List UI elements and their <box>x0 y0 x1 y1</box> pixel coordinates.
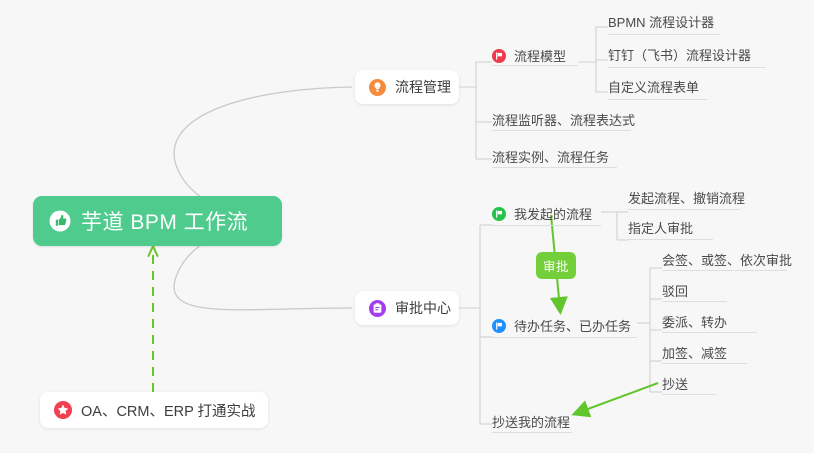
underline-todo-tasks <box>492 337 637 338</box>
underline-process-instance <box>492 167 617 168</box>
leaf-label-cc-processes: 抄送我的流程 <box>492 412 570 431</box>
underline-dingtalk-designer <box>608 67 766 68</box>
note-label-integration: OA、CRM、ERP 打通实战 <box>81 400 256 421</box>
underline-cc <box>662 394 716 395</box>
underline-bpmn-designer <box>608 34 720 35</box>
leaf-start-cancel[interactable]: 发起流程、撤销流程 <box>628 188 745 211</box>
root-label: 芋道 BPM 工作流 <box>81 206 248 236</box>
star-icon <box>54 401 72 419</box>
callout-approve-label: 审批 <box>543 256 569 275</box>
branch-label-process-management: 流程管理 <box>395 77 451 97</box>
root-node[interactable]: 芋道 BPM 工作流 <box>33 196 282 246</box>
leaf-label-process-instance: 流程实例、流程任务 <box>492 147 609 166</box>
underline-designated-approver <box>628 239 713 240</box>
underline-process-model <box>492 65 578 66</box>
annotation-arrow-cc <box>577 383 658 413</box>
underline-delegate <box>662 332 757 333</box>
leaf-bpmn-designer[interactable]: BPMN 流程设计器 <box>608 12 714 35</box>
underline-cc-processes <box>492 432 572 433</box>
branch-card-process-management[interactable]: 流程管理 <box>355 70 459 104</box>
thumbs-up-icon <box>49 210 71 232</box>
leaf-label-delegate: 委派、转办 <box>662 312 727 331</box>
mindmap-canvas: 芋道 BPM 工作流 流程管理 审批中心 <box>0 0 814 453</box>
leaf-my-processes[interactable]: 我发起的流程 <box>492 204 592 227</box>
leaf-label-process-listener: 流程监听器、流程表达式 <box>492 110 635 129</box>
branch-card-approval-center[interactable]: 审批中心 <box>355 291 459 325</box>
leaf-label-bpmn-designer: BPMN 流程设计器 <box>608 12 714 31</box>
leaf-custom-form[interactable]: 自定义流程表单 <box>608 77 699 100</box>
branch-label-approval-center: 审批中心 <box>395 298 451 318</box>
leaf-label-add-remove-sign: 加签、减签 <box>662 343 727 362</box>
leaf-label-reject: 驳回 <box>662 281 688 300</box>
leaf-label-sign-modes: 会签、或签、依次审批 <box>662 250 792 269</box>
underline-reject <box>662 301 727 302</box>
callout-approve[interactable]: 审批 <box>536 252 576 279</box>
lightbulb-icon <box>369 79 386 96</box>
flag-icon <box>492 49 506 63</box>
leaf-label-my-processes: 我发起的流程 <box>514 204 592 223</box>
leaf-label-start-cancel: 发起流程、撤销流程 <box>628 188 745 207</box>
annotation-dashed-arrowhead <box>149 246 158 256</box>
flag-icon <box>492 207 506 221</box>
underline-custom-form <box>608 99 707 100</box>
leaf-label-dingtalk-designer: 钉钉（飞书）流程设计器 <box>608 45 751 64</box>
leaf-label-todo-tasks: 待办任务、已办任务 <box>514 316 631 335</box>
leaf-designated-approver[interactable]: 指定人审批 <box>628 218 693 241</box>
leaf-label-designated-approver: 指定人审批 <box>628 218 693 237</box>
document-icon <box>369 300 386 317</box>
leaf-label-process-model: 流程模型 <box>514 46 566 65</box>
underline-process-listener <box>492 130 631 131</box>
underline-my-processes <box>492 225 601 226</box>
underline-add-remove-sign <box>662 363 747 364</box>
note-card-integration[interactable]: OA、CRM、ERP 打通实战 <box>40 392 268 428</box>
leaf-todo-tasks[interactable]: 待办任务、已办任务 <box>492 316 631 339</box>
underline-start-cancel <box>628 209 740 210</box>
underline-sign-modes <box>662 270 787 271</box>
leaf-dingtalk-designer[interactable]: 钉钉（飞书）流程设计器 <box>608 45 751 68</box>
flag-icon <box>492 319 506 333</box>
leaf-label-cc: 抄送 <box>662 374 688 393</box>
leaf-label-custom-form: 自定义流程表单 <box>608 77 699 96</box>
